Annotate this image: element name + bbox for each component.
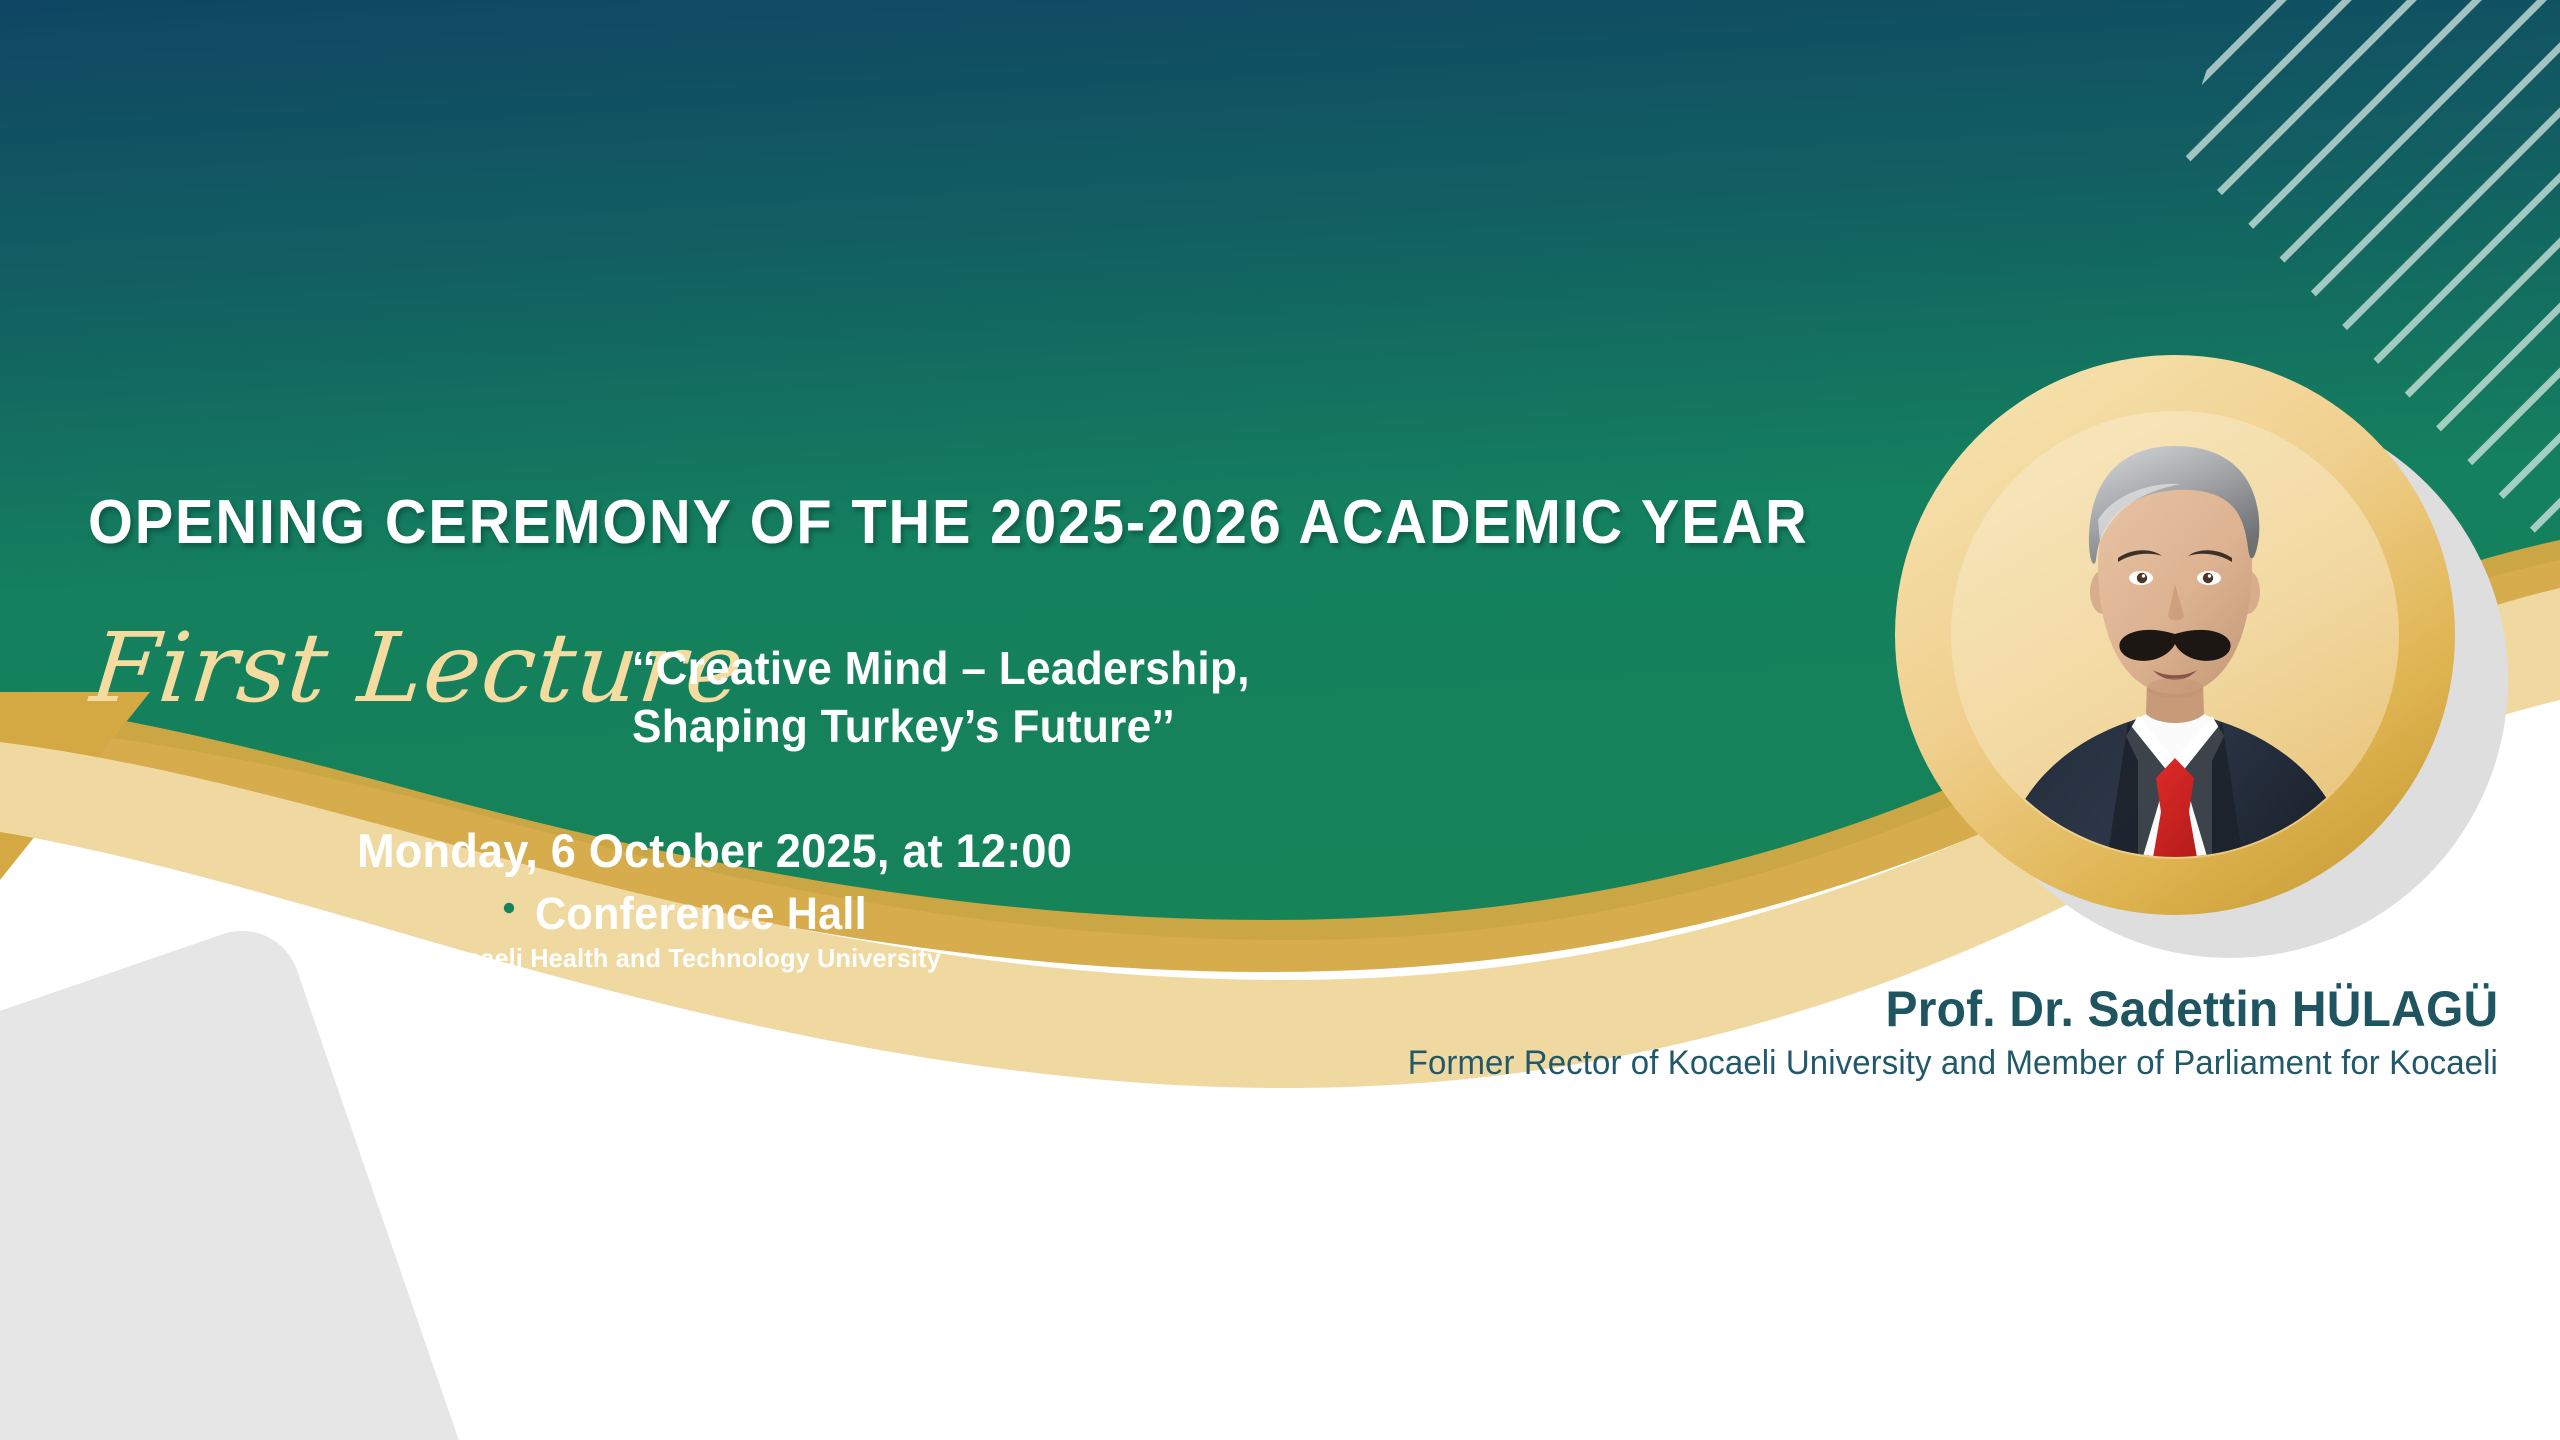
lecture-title-line-1: ‘‘Creative Mind – Leadership,: [632, 640, 1250, 698]
event-banner: OPENING CEREMONY OF THE 2025-2026 ACADEM…: [0, 0, 2560, 1440]
venue-label: Conference Hall: [535, 888, 867, 940]
page-title: OPENING CEREMONY OF THE 2025-2026 ACADEM…: [88, 487, 1808, 558]
datetime-label: Monday, 6 October 2025, at 12:00: [357, 823, 1072, 878]
datetime-row: Monday, 6 October 2025, at 12:00: [305, 823, 1102, 878]
venue-institution: Kocaeli Health and Technology University: [432, 943, 941, 974]
location-pin-icon: [492, 892, 526, 936]
lecture-title-line-2: Shaping Turkey’s Future’’: [632, 698, 1250, 756]
speaker-name: Prof. Dr. Sadettin HÜLAGÜ: [1885, 980, 2498, 1038]
speaker-role: Former Rector of Kocaeli University and …: [1408, 1044, 2498, 1083]
lecture-title: ‘‘Creative Mind – Leadership, Shaping Tu…: [632, 640, 1250, 755]
clock-icon: [305, 830, 347, 872]
venue-row: Conference Hall: [492, 888, 881, 940]
